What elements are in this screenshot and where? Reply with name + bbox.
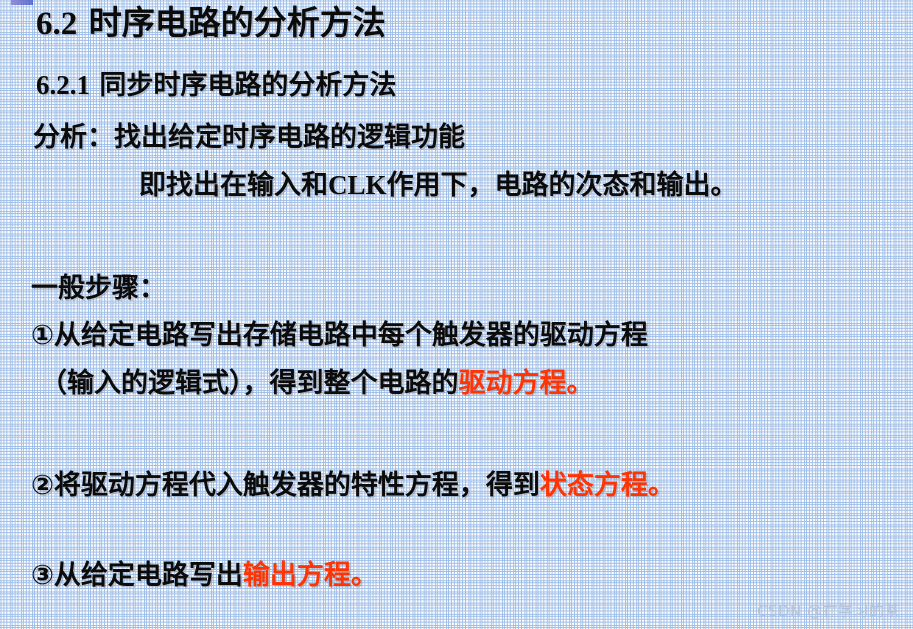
csdn-watermark: CSDN @在学习的茶	[757, 600, 900, 621]
page-title-number: 6.2	[36, 6, 77, 42]
step-3-highlight-output-equation: 输出方程	[243, 560, 351, 591]
steps-heading: 一般步骤：	[31, 266, 166, 305]
slide-canvas: 6.2 时序电路的分析方法 6.2.1 同步时序电路的分析方法 分析：找出给定时…	[0, 0, 913, 629]
step-1-line-2: （输入的逻辑式），得到整个电路的驱动方程。	[40, 361, 594, 400]
step-1-line-2-black: （输入的逻辑式），得到整个电路的	[40, 368, 459, 399]
analysis-line2-prefix: 即找出在输入和	[139, 170, 328, 201]
corner-accent-mark	[11, 0, 33, 5]
section-subtitle: 6.2.1 同步时序电路的分析方法	[36, 68, 396, 103]
step-2-period: 。	[648, 470, 675, 501]
step-1-line-1-text: 从给定电路写出存储电路中每个触发器的驱动方程	[54, 320, 648, 351]
clk-label: CLK	[328, 170, 387, 200]
page-title: 6.2 时序电路的分析方法	[36, 3, 386, 44]
step-1-line-2-period: 。	[567, 368, 594, 399]
step-1-line-1: ①从给定电路写出存储电路中每个触发器的驱动方程	[31, 313, 648, 352]
step-1-marker: ①	[31, 320, 54, 351]
step-3-marker: ③	[31, 560, 54, 591]
slide-content: 6.2 时序电路的分析方法 6.2.1 同步时序电路的分析方法 分析：找出给定时…	[0, 0, 913, 629]
analysis-definition-line-1: 分析：找出给定时序电路的逻辑功能	[33, 115, 465, 154]
step-3-line-1: ③从给定电路写出输出方程。	[31, 553, 378, 592]
section-subtitle-text: 同步时序电路的分析方法	[90, 70, 396, 101]
step-2-line-1: ②将驱动方程代入触发器的特性方程，得到状态方程。	[31, 463, 675, 502]
step-2-highlight-state-equation: 状态方程	[540, 470, 648, 501]
step-1-highlight-drive-equation: 驱动方程	[459, 368, 567, 399]
section-subtitle-number: 6.2.1	[36, 70, 90, 100]
page-title-text: 时序电路的分析方法	[77, 3, 386, 42]
step-3-text-black: 从给定电路写出	[54, 560, 243, 591]
step-3-period: 。	[351, 560, 378, 591]
step-2-text-black: 将驱动方程代入触发器的特性方程，得到	[54, 470, 540, 501]
step-2-marker: ②	[31, 470, 54, 501]
analysis-line2-suffix: 作用下，电路的次态和输出。	[387, 170, 738, 201]
analysis-definition-line-2: 即找出在输入和CLK作用下，电路的次态和输出。	[139, 163, 738, 202]
